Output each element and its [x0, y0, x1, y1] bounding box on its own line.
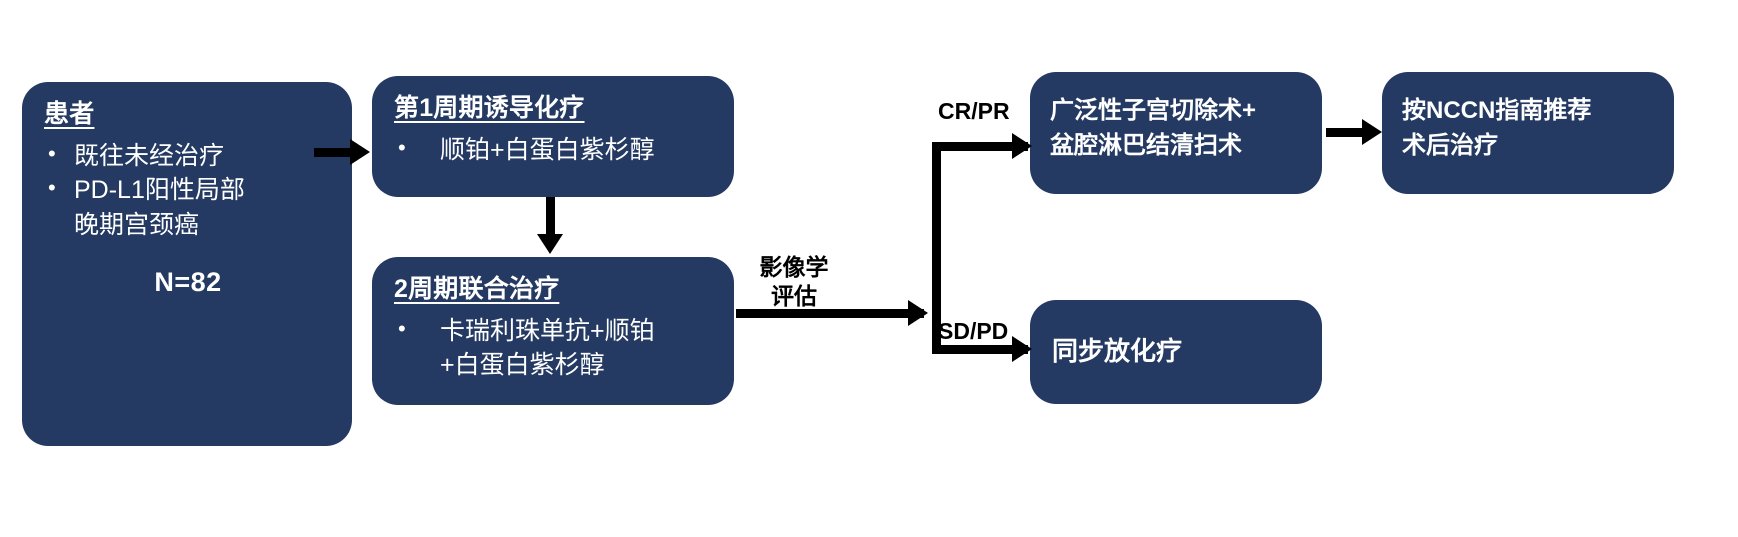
node-cycle2-combination-therapy[interactable]: 2周期联合治疗 卡瑞利珠单抗+顺铂 +白蛋白紫杉醇 — [372, 257, 734, 405]
list-item: 顺铂+白蛋白紫杉醇 — [394, 134, 714, 167]
list-item: +白蛋白紫杉醇 — [394, 349, 714, 382]
node-nccn-adjuvant-therapy[interactable]: 按NCCN指南推荐 术后治疗 — [1382, 72, 1674, 194]
node-cycle2-title: 2周期联合治疗 — [394, 275, 714, 305]
edge-label-cr-pr: CR/PR — [938, 97, 1010, 126]
connector-branch-to-crt-arrowhead — [1012, 336, 1032, 362]
edge-label-sd-pd: SD/PD — [938, 317, 1008, 346]
list-item: PD-L1阳性局部 — [44, 174, 332, 207]
node-patient[interactable]: 患者 既往未经治疗 PD-L1阳性局部 晚期宫颈癌 N=82 — [22, 82, 352, 446]
connector-surgery-to-nccn-arrowhead — [1362, 119, 1382, 145]
node-radical-surgery[interactable]: 广泛性子宫切除术+ 盆腔淋巴结清扫术 — [1030, 72, 1322, 194]
node-patient-title: 患者 — [44, 100, 332, 130]
node-patient-bullets: 既往未经治疗 PD-L1阳性局部 晚期宫颈癌 — [44, 140, 332, 242]
node-concurrent-chemoradiation[interactable]: 同步放化疗 — [1030, 300, 1322, 404]
diagram-canvas: 患者 既往未经治疗 PD-L1阳性局部 晚期宫颈癌 N=82 第1周期诱导化疗 … — [0, 0, 1738, 537]
connector-branch-to-surgery-arrowhead — [1012, 133, 1032, 159]
list-item: 既往未经治疗 — [44, 140, 332, 173]
node-nccn-content: 按NCCN指南推荐 术后治疗 — [1382, 72, 1674, 182]
connector-cycle1-to-cycle2-arrowhead — [537, 234, 563, 254]
node-cycle2-content: 2周期联合治疗 卡瑞利珠单抗+顺铂 +白蛋白紫杉醇 — [372, 257, 734, 402]
edge-label-imaging-assessment: 影像学 评估 — [742, 253, 846, 311]
node-nccn-text: 按NCCN指南推荐 术后治疗 — [1402, 94, 1658, 164]
connector-patient-to-cycle1-arrowhead — [350, 139, 370, 165]
node-cycle1-bullets: 顺铂+白蛋白紫杉醇 — [394, 134, 714, 167]
node-patient-count: N=82 — [44, 267, 332, 298]
node-surgery-text: 广泛性子宫切除术+ 盆腔淋巴结清扫术 — [1050, 94, 1306, 164]
node-crt-text: 同步放化疗 — [1052, 333, 1182, 371]
node-crt-content: 同步放化疗 — [1030, 300, 1322, 404]
connector-cycle2-to-assessment-arrowhead — [908, 300, 928, 326]
list-item: 晚期宫颈癌 — [44, 209, 332, 242]
node-cycle2-bullets: 卡瑞利珠单抗+顺铂 +白蛋白紫杉醇 — [394, 315, 714, 382]
node-cycle1-induction-chemo[interactable]: 第1周期诱导化疗 顺铂+白蛋白紫杉醇 — [372, 76, 734, 197]
node-surgery-content: 广泛性子宫切除术+ 盆腔淋巴结清扫术 — [1030, 72, 1322, 182]
node-cycle1-content: 第1周期诱导化疗 顺铂+白蛋白紫杉醇 — [372, 76, 734, 186]
connector-cycle1-to-cycle2-line — [546, 197, 555, 239]
list-item: 卡瑞利珠单抗+顺铂 — [394, 315, 714, 348]
node-cycle1-title: 第1周期诱导化疗 — [394, 94, 714, 124]
node-patient-content: 患者 既往未经治疗 PD-L1阳性局部 晚期宫颈癌 N=82 — [22, 82, 352, 316]
